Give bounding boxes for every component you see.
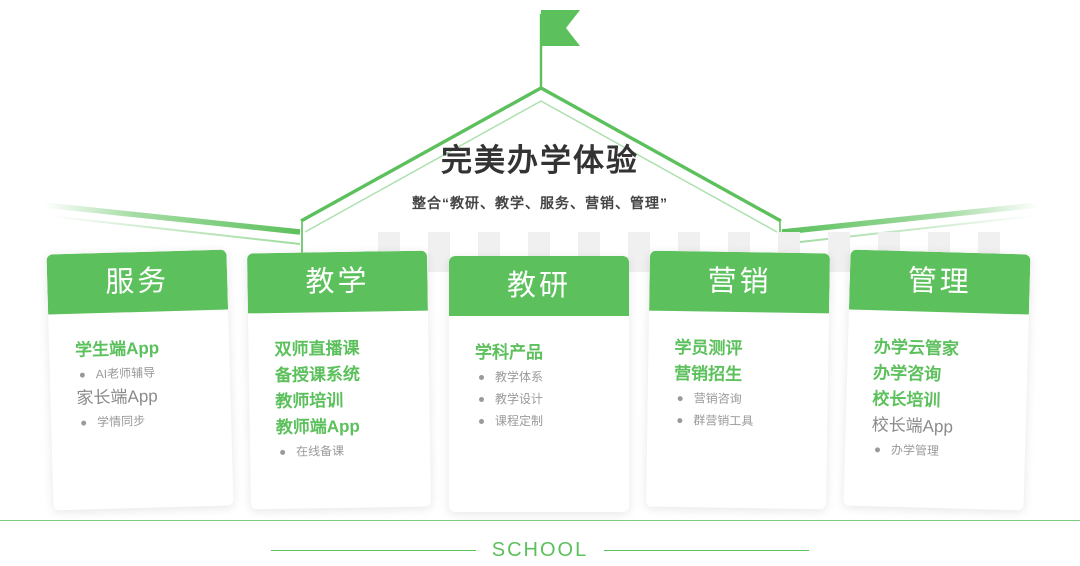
card-research[interactable]: 教研学科产品教学体系教学设计课程定制 — [449, 256, 629, 512]
footer-rule-right — [604, 550, 809, 551]
card-body-teaching: 双师直播课备授课系统教师培训教师端App在线备课 — [248, 311, 431, 510]
card-body-marketing: 学员测评营销招生营销咨询群营销工具 — [646, 311, 829, 510]
card-subitem: 营销咨询 — [674, 387, 828, 411]
card-subitem-label: 在线备课 — [296, 440, 344, 463]
card-item[interactable]: 教师培训 — [275, 387, 429, 415]
card-subitem: 群营销工具 — [673, 409, 827, 433]
card-subitem: 课程定制 — [475, 410, 629, 432]
card-teaching[interactable]: 教学双师直播课备授课系统教师培训教师端App在线备课 — [247, 251, 431, 510]
bullet-icon — [678, 396, 683, 401]
card-title-management: 管理 — [907, 264, 972, 300]
card-title-marketing: 营销 — [707, 265, 772, 300]
card-header-teaching: 教学 — [247, 251, 428, 314]
footer-label-row: SCHOOL — [0, 539, 1080, 561]
card-header-service: 服务 — [46, 250, 228, 315]
card-subitem: 教学体系 — [475, 366, 629, 388]
card-item[interactable]: 学员测评 — [674, 335, 828, 363]
card-management[interactable]: 管理办学云管家办学咨询校长培训校长端App办学管理 — [843, 250, 1030, 511]
card-header-management: 管理 — [849, 250, 1031, 315]
card-subitem-label: 学情同步 — [97, 410, 146, 433]
card-title-research: 教研 — [507, 269, 571, 303]
card-subitem-label: 教学体系 — [495, 366, 543, 388]
card-row: 服务学生端AppAI老师辅导家长端App学情同步教学双师直播课备授课系统教师培训… — [0, 0, 1080, 566]
card-service[interactable]: 服务学生端AppAI老师辅导家长端App学情同步 — [46, 250, 233, 511]
card-item[interactable]: 营销招生 — [674, 361, 828, 389]
card-subitem-label: 教学设计 — [495, 388, 543, 410]
infographic-canvas: 完美办学体验 整合“教研、教学、服务、营销、管理” 服务学生端AppAI老师辅导… — [0, 0, 1080, 566]
card-item[interactable]: 备授课系统 — [275, 361, 429, 389]
card-subitem: 办学管理 — [871, 438, 1026, 464]
card-item[interactable]: 双师直播课 — [274, 335, 428, 363]
footer-top-rule — [0, 520, 1080, 521]
card-subitem-label: 办学管理 — [891, 439, 940, 462]
bullet-icon — [479, 375, 484, 380]
bullet-icon — [479, 419, 484, 424]
card-title-teaching: 教学 — [305, 265, 370, 300]
footer-rule-left — [271, 550, 476, 551]
card-subitem: 教学设计 — [475, 388, 629, 410]
card-subitem-label: AI老师辅导 — [96, 362, 156, 386]
footer-label: SCHOOL — [492, 539, 588, 561]
card-item[interactable]: 学科产品 — [475, 340, 629, 366]
card-subitem: 学情同步 — [77, 407, 232, 433]
card-subitem-label: 课程定制 — [495, 410, 543, 432]
card-marketing[interactable]: 营销学员测评营销招生营销咨询群营销工具 — [646, 251, 830, 510]
card-item[interactable]: 教师端App — [276, 413, 430, 441]
bullet-icon — [677, 418, 682, 423]
bullet-icon — [80, 372, 85, 377]
bullet-icon — [81, 420, 86, 425]
bullet-icon — [479, 397, 484, 402]
card-subitem-label: 群营销工具 — [693, 409, 753, 432]
card-header-marketing: 营销 — [649, 251, 830, 314]
footer: SCHOOL — [0, 512, 1080, 566]
bullet-icon — [280, 449, 285, 454]
bullet-icon — [875, 447, 880, 452]
card-body-service: 学生端AppAI老师辅导家长端App学情同步 — [48, 310, 233, 511]
card-body-management: 办学云管家办学咨询校长培训校长端App办学管理 — [843, 310, 1028, 511]
card-subitem: 在线备课 — [276, 439, 430, 463]
card-title-service: 服务 — [105, 264, 170, 300]
card-subitem-label: 营销咨询 — [694, 387, 742, 410]
card-header-research: 教研 — [449, 256, 629, 316]
card-body-research: 学科产品教学体系教学设计课程定制 — [449, 316, 629, 512]
